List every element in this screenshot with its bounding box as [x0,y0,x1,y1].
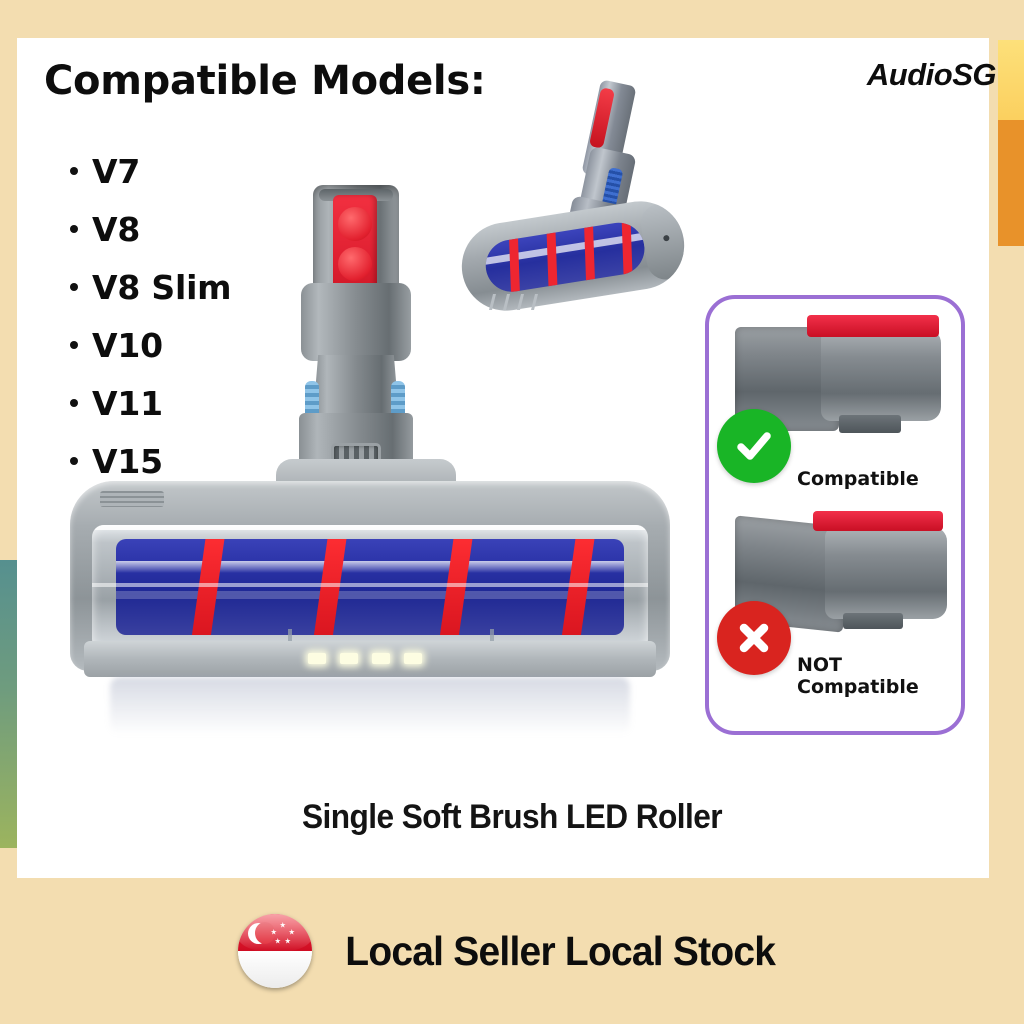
footer-banner: Local Seller Local Stock [0,878,1024,1024]
cross-icon [731,615,777,661]
product-title: Single Soft Brush LED Roller [36,798,988,837]
connector-mid-collar [301,283,411,361]
footer-text: Local Seller Local Stock [345,928,775,975]
head-clear-window [92,525,648,651]
soft-roller-brush [116,539,624,635]
check-badge [717,409,791,483]
not-compatible-label: NOT Compatible [797,655,937,699]
product-reflection [110,677,630,735]
roller-highlight-2 [116,591,624,599]
compatibility-panel: Compatible NOT Compatible [705,295,965,735]
led-light [372,653,390,664]
led-light [340,653,358,664]
product-marketing-image: Compatible Models: AudioSG V7 V8 V8 Slim… [0,0,1024,1024]
product-main-photo [70,185,670,765]
singapore-flag-icon [238,914,312,988]
page-title: Compatible Models: [44,58,486,104]
check-icon [731,423,777,469]
brand-logo: AudioSG [867,57,996,93]
not-compatible-row: NOT Compatible [709,505,961,725]
left-accent-band [0,560,18,848]
head-front-bar [84,641,656,677]
release-button-upper [338,207,372,241]
connector-waist [313,355,399,417]
product-roller-head [70,481,670,705]
led-light [404,653,422,664]
compatible-label: Compatible [797,469,919,491]
compatible-row: Compatible [709,305,961,505]
bullet-icon [70,167,78,175]
release-button-lower [338,247,372,281]
led-light [308,653,326,664]
head-vent-slots [100,491,164,507]
window-highlight-top [92,525,648,530]
roller-highlight [116,561,624,573]
right-accent-band-orange [998,120,1024,246]
cross-badge [717,601,791,675]
head-shell [70,481,670,671]
window-highlight-mid [92,583,648,587]
right-accent-band-yellow [998,40,1024,120]
